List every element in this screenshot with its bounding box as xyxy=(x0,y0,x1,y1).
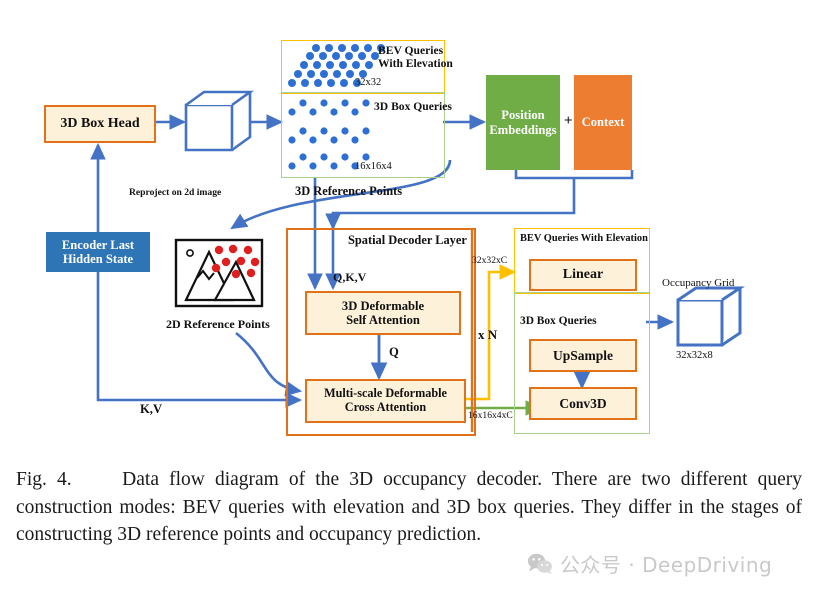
box-channels-label: 16x16x4xC xyxy=(468,411,513,422)
box-context[interactable]: Context xyxy=(574,75,632,170)
box-position-embeddings[interactable]: Position Embeddings xyxy=(486,75,560,170)
bev-queries-title-right: BEV Queries With Elevation xyxy=(520,233,648,245)
box-queries-title-right: 3D Box Queries xyxy=(520,315,597,328)
position-embeddings-line1: Position xyxy=(501,108,544,122)
bev-dims-label: 32x32 xyxy=(355,77,381,89)
figure-canvas: 3D Box Head Encoder Last Hidden State Po… xyxy=(0,0,817,594)
box-multiscale-deformable-cross-attention[interactable]: Multi-scale Deformable Cross Attention xyxy=(305,379,466,423)
repeat-n-label: x N xyxy=(478,328,497,343)
position-embeddings-line2: Embeddings xyxy=(489,123,556,137)
figure-caption-text: Data flow diagram of the 3D occupancy de… xyxy=(16,469,802,545)
box-3d-deformable-self-attention[interactable]: 3D Deformable Self Attention xyxy=(305,291,461,335)
spatial-decoder-title: Spatial Decoder Layer xyxy=(348,234,467,248)
box-dims-label: 16x16x4 xyxy=(355,161,392,173)
cross-attention-line2: Cross Attention xyxy=(345,400,426,414)
box-conv3d[interactable]: Conv3D xyxy=(529,387,637,420)
plus-sign: + xyxy=(564,113,573,130)
figure-number: Fig. 4. xyxy=(16,469,72,490)
2d-reference-points-label: 2D Reference Points xyxy=(166,318,270,331)
cross-attention-line1: Multi-scale Deformable xyxy=(324,386,447,400)
q-edge-label: Q xyxy=(389,345,399,359)
bev-top-line1: BEV Queries xyxy=(378,44,443,57)
watermark-text: 公众号 · DeepDriving xyxy=(560,549,772,578)
bev-queries-title-top: BEV Queries With Elevation xyxy=(378,44,453,70)
figure-caption: Fig. 4. Data flow diagram of the 3D occu… xyxy=(16,466,802,549)
wechat-icon xyxy=(527,553,553,574)
self-attention-line2: Self Attention xyxy=(346,313,420,327)
qkv-edge-label: Q,K,V xyxy=(333,271,366,284)
encoder-label-line2: Hidden State xyxy=(63,252,133,266)
reproject-edge-label: Reproject on 2d image xyxy=(129,188,221,199)
self-attention-line1: 3D Deformable xyxy=(342,299,424,313)
box-queries-title-top: 3D Box Queries xyxy=(374,100,452,113)
encoder-label-line1: Encoder Last xyxy=(62,238,134,252)
image-frame xyxy=(176,240,262,306)
bev-top-line2: With Elevation xyxy=(378,57,453,70)
box-linear[interactable]: Linear xyxy=(529,259,637,291)
kv-edge-label: K,V xyxy=(140,402,162,416)
3d-reference-points-label: 3D Reference Points xyxy=(295,185,402,199)
box-encoder-last-hidden-state[interactable]: Encoder Last Hidden State xyxy=(46,232,150,272)
box-upsample[interactable]: UpSample xyxy=(529,339,637,372)
watermark: 公众号 · DeepDriving xyxy=(527,549,772,578)
occupancy-dims-label: 32x32x8 xyxy=(676,350,713,362)
bev-channels-label: 32x32xC xyxy=(472,256,507,267)
occupancy-grid-label: Occupancy Grid xyxy=(662,277,734,289)
box-3d-box-head[interactable]: 3D Box Head xyxy=(44,105,156,143)
